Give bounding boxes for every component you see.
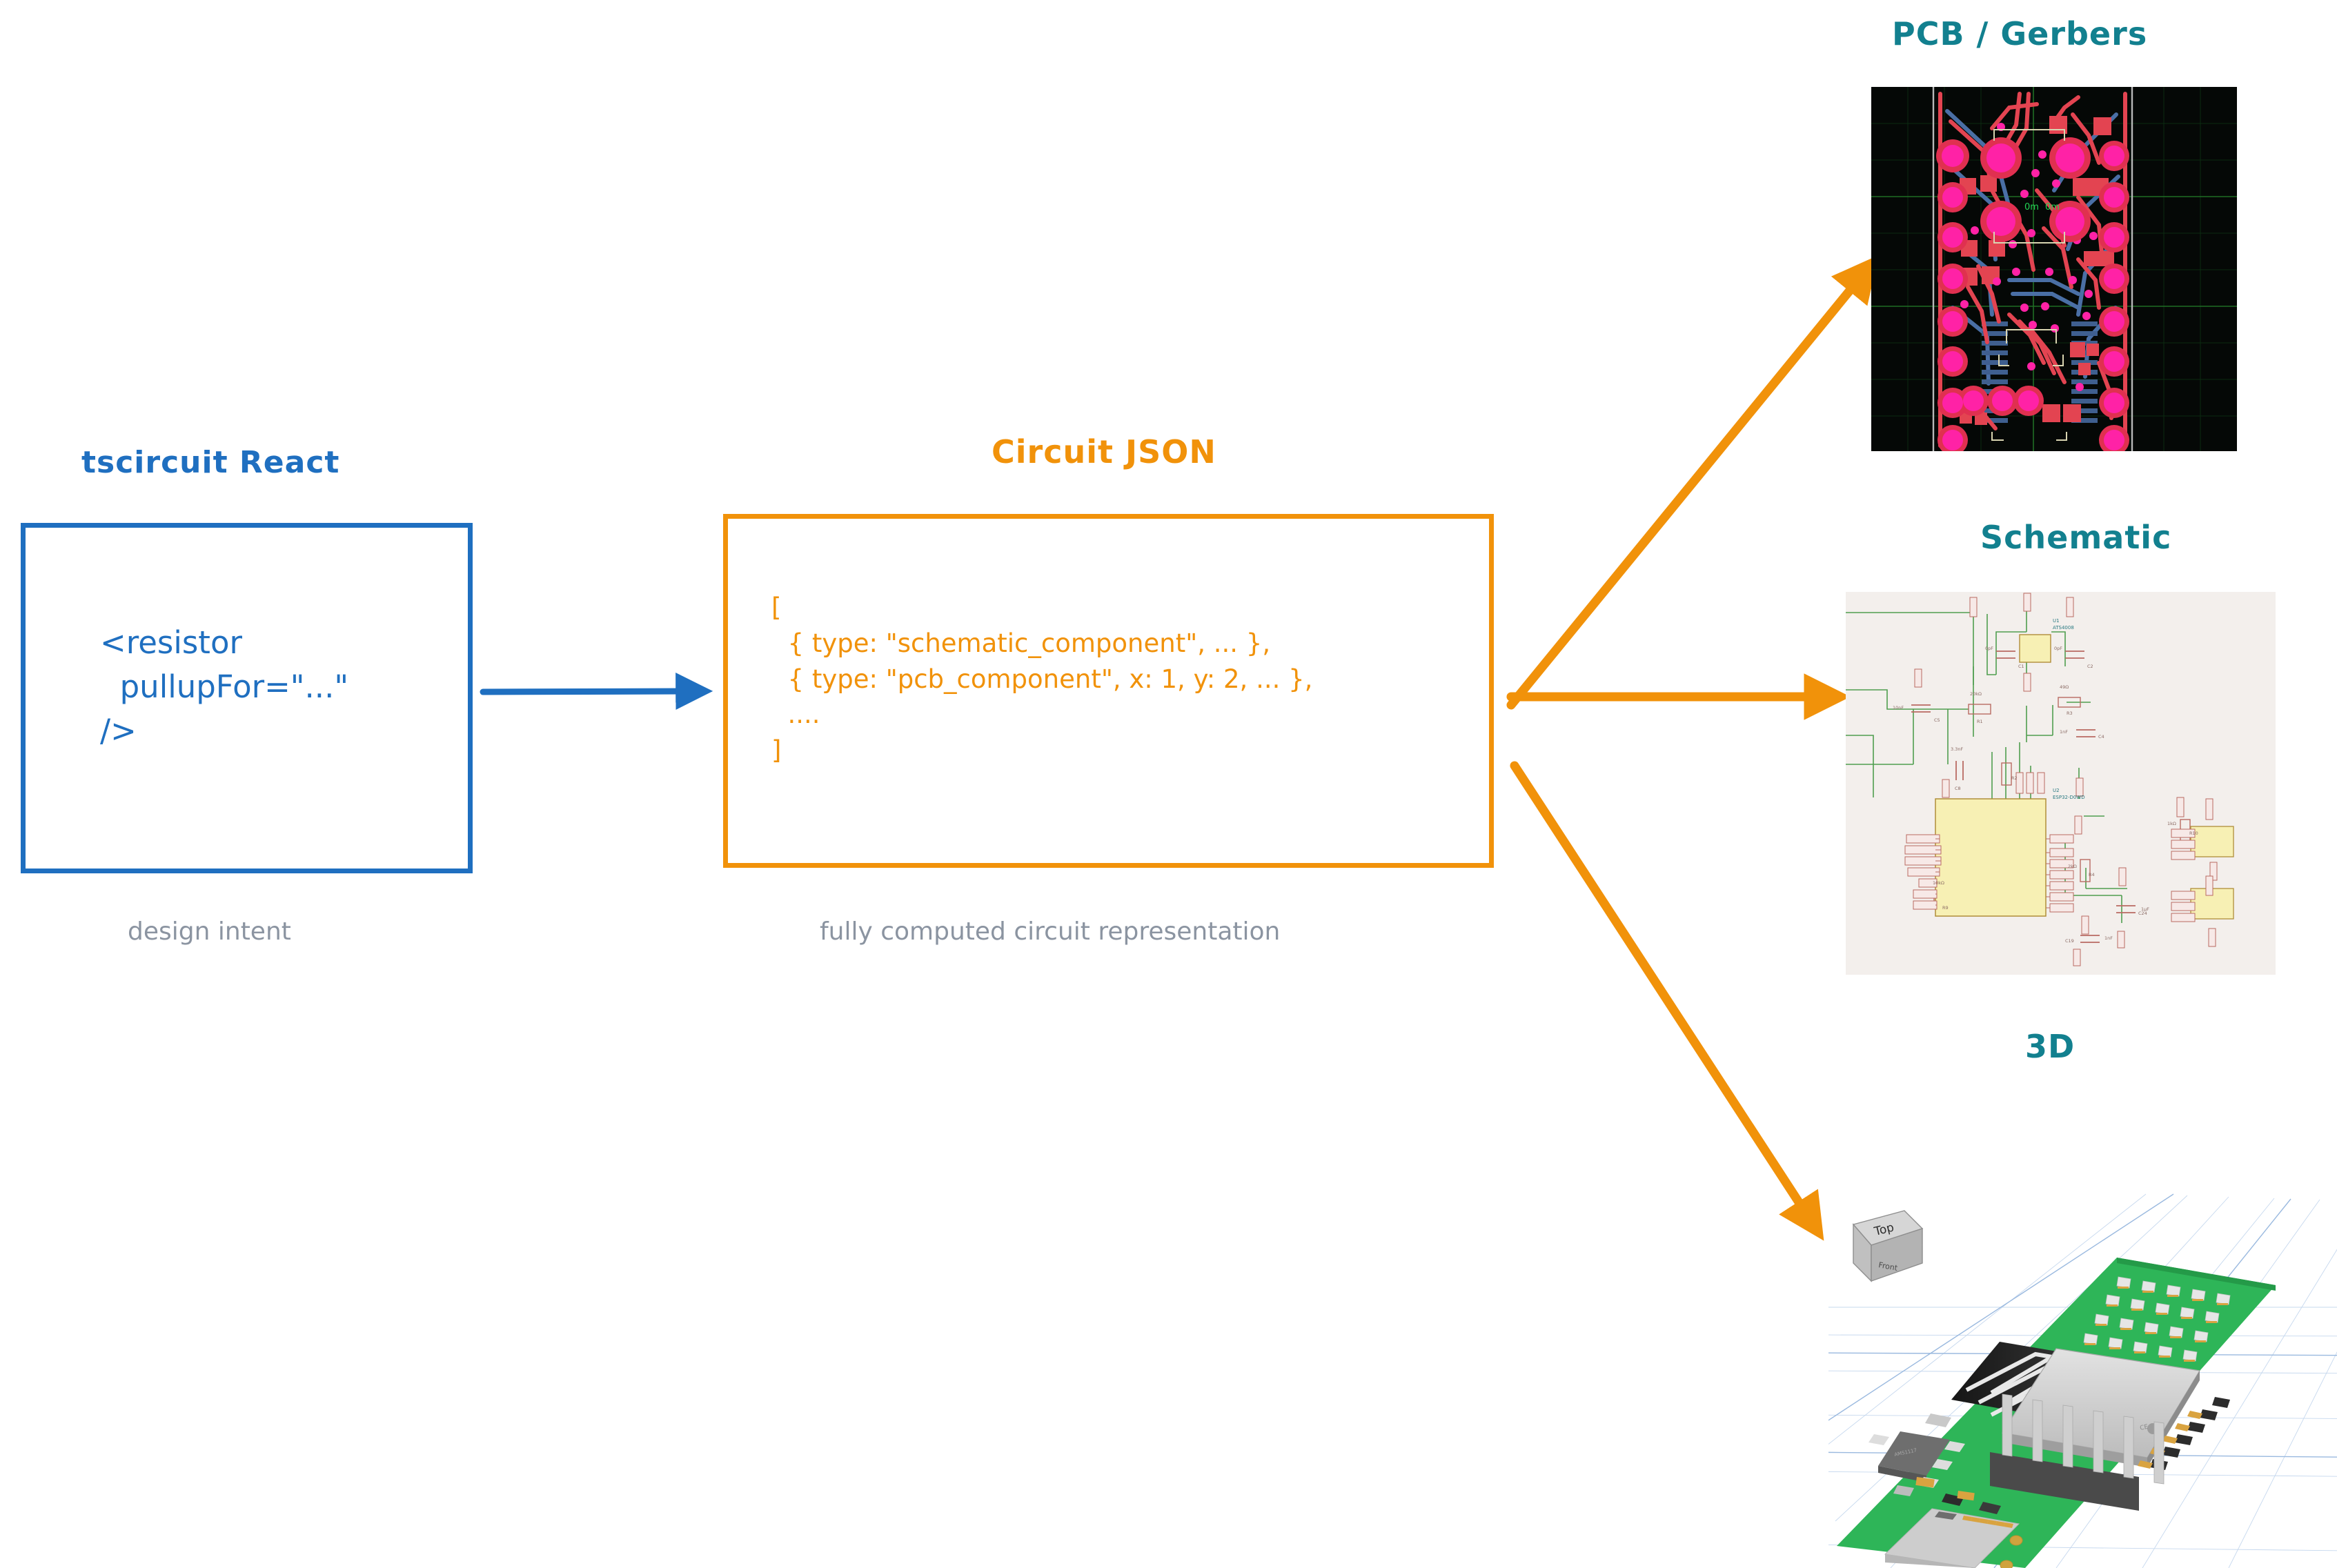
svg-text:C1: C1 (2018, 664, 2024, 669)
svg-text:U2: U2 (2053, 788, 2060, 793)
3d-preview-svg: Top Front (1828, 1107, 2337, 1568)
middle-node-heading: Circuit JSON (992, 433, 1216, 470)
svg-text:1µF: 1µF (2141, 906, 2149, 912)
middle-node-caption: fully computed circuit representation (820, 917, 1280, 946)
svg-text:ESP32-D0WD: ESP32-D0WD (2053, 795, 2085, 800)
diagram-canvas: tscircuit React <resistor pullupFor="...… (0, 0, 2337, 1568)
source-code-line-1: <resistor (100, 624, 242, 661)
svg-text:1nF: 1nF (2104, 935, 2113, 941)
source-node-code: <resistor pullupFor="..." /> (100, 621, 459, 753)
svg-text:20kΩ: 20kΩ (1970, 691, 1982, 697)
pcb-label-0m-left: 0m (2024, 202, 2039, 212)
svg-text:R3: R3 (2067, 711, 2073, 716)
source-code-line-3: /> (100, 713, 137, 749)
svg-text:C19: C19 (2065, 938, 2074, 944)
json-code-line-2: { type: "schematic_component", ... }, (771, 628, 1270, 658)
svg-text:R4: R4 (2089, 872, 2095, 877)
svg-text:3.3nF: 3.3nF (1951, 746, 1963, 752)
output-pcb-heading: PCB / Gerbers (1892, 15, 2147, 52)
svg-text:R10: R10 (2189, 831, 2198, 836)
svg-text:C8: C8 (1955, 786, 1961, 791)
schematic-thumbnail[interactable]: C1C2 C5C8 C4C24 C19 R1R2 R3R4 R9R10 0pF0… (1846, 592, 2276, 975)
json-code-line-3: { type: "pcb_component", x: 1, y: 2, ...… (771, 664, 1312, 694)
source-code-line-2: pullupFor="..." (100, 668, 348, 705)
arrow-json-to-3d (1515, 766, 1804, 1211)
arrow-react-to-json (483, 691, 683, 692)
pcb-label-0m-right: 0m (2045, 202, 2060, 212)
3d-view-thumbnail[interactable]: Top Front (1828, 1107, 2337, 1568)
output-schematic-heading: Schematic (1980, 519, 2171, 556)
json-code-line-1: [ (771, 593, 781, 622)
json-code-line-5: ] (771, 735, 781, 765)
source-node-heading: tscircuit React (81, 445, 339, 480)
svg-text:0pF: 0pF (2054, 646, 2062, 651)
svg-text:0pF: 0pF (1985, 646, 1993, 651)
svg-text:ATS4008: ATS4008 (2053, 625, 2074, 631)
svg-text:U1: U1 (2053, 618, 2060, 624)
source-node-caption: design intent (128, 917, 291, 946)
svg-text:C5: C5 (1934, 717, 1940, 723)
json-code-line-4: .... (771, 699, 820, 729)
svg-text:C4: C4 (2098, 734, 2104, 740)
svg-text:10nF: 10nF (1893, 705, 1904, 711)
svg-text:1nF: 1nF (2060, 729, 2068, 735)
output-3d-heading: 3D (2025, 1028, 2075, 1065)
svg-text:R1: R1 (1977, 719, 1983, 724)
svg-text:R2: R2 (2011, 775, 2018, 781)
svg-text:10kΩ: 10kΩ (1933, 880, 1944, 886)
schematic-preview-svg: C1C2 C5C8 C4C24 C19 R1R2 R3R4 R9R10 0pF0… (1846, 592, 2276, 975)
svg-text:1kΩ: 1kΩ (2167, 821, 2176, 826)
svg-text:49Ω: 49Ω (2060, 684, 2069, 690)
pcb-preview-svg: 0m 0m (1871, 87, 2237, 451)
svg-text:2kΩ: 2kΩ (2068, 864, 2077, 869)
arrow-json-to-pcb (1511, 283, 1856, 705)
svg-text:R9: R9 (1942, 905, 1949, 911)
svg-text:C2: C2 (2087, 664, 2093, 669)
middle-node-code: [ { type: "schematic_component", ... }, … (771, 590, 1475, 768)
pcb-gerbers-thumbnail[interactable]: 0m 0m (1871, 87, 2237, 451)
